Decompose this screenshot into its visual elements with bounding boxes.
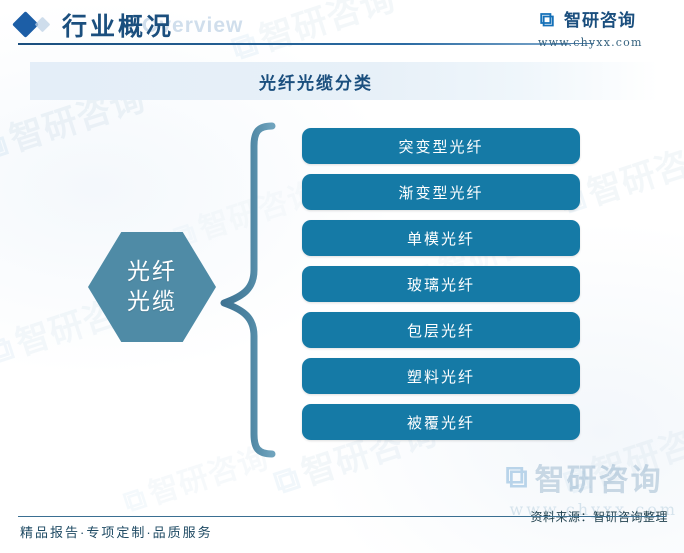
brand-url: www.chyxx.com: [536, 36, 666, 49]
list-item[interactable]: 渐变型光纤: [302, 174, 580, 210]
list-item-label: 渐变型光纤: [398, 182, 483, 203]
list-item[interactable]: 包层光纤: [302, 312, 580, 348]
classification-item-list: 突变型光纤 渐变型光纤 单模光纤 玻璃光纤 包层光纤 塑料光纤 被覆光纤: [302, 128, 580, 440]
list-item-label: 包层光纤: [407, 320, 475, 341]
slide-header: Overview 行业概况 ⧉ 智研咨询 www.chyxx.com: [0, 0, 684, 50]
root-node-hexagon: 光纤 光缆: [88, 232, 216, 342]
chart-title-bar: 光纤光缆分类: [30, 62, 658, 100]
section-title: 行业概况: [62, 7, 174, 43]
brand-logo: ⧉ 智研咨询 www.chyxx.com: [536, 6, 666, 48]
brand-name: 智研咨询: [564, 6, 636, 31]
list-item-label: 塑料光纤: [407, 366, 475, 387]
chart-title: 光纤光缆分类: [30, 62, 602, 100]
root-node-label-line2: 光缆: [127, 287, 177, 317]
list-item-label: 被覆光纤: [407, 412, 475, 433]
diamond-icon: [16, 14, 60, 36]
list-item[interactable]: 被覆光纤: [302, 404, 580, 440]
slide-page: ⧉智研咨询 ⧉智研咨询 ⧉智研咨询 ⧉智研咨询 ⧉智研咨询 ⧉智研咨询 ⧉智研咨…: [0, 0, 684, 553]
list-item[interactable]: 塑料光纤: [302, 358, 580, 394]
classification-diagram: 光纤 光缆 突变型光纤 渐变型光纤 单模光纤 玻璃光纤 包层光纤 塑料光纤 被覆…: [0, 110, 684, 470]
root-node-label-line1: 光纤: [127, 257, 177, 287]
zhiyan-logo-icon: ⧉: [536, 8, 558, 30]
zhiyan-logo-icon: ⧉: [119, 480, 151, 520]
list-item[interactable]: 单模光纤: [302, 220, 580, 256]
footer-slogan: 精品报告·专项定制·品质服务: [20, 522, 213, 541]
list-item-label: 玻璃光纤: [407, 274, 475, 295]
footer-divider: [18, 516, 666, 517]
list-item-label: 单模光纤: [407, 228, 475, 249]
diamond-small-shape: [35, 17, 51, 33]
list-item[interactable]: 突变型光纤: [302, 128, 580, 164]
curly-brace-icon: [214, 120, 276, 460]
header-divider: [18, 43, 570, 45]
list-item[interactable]: 玻璃光纤: [302, 266, 580, 302]
list-item-label: 突变型光纤: [398, 136, 483, 157]
